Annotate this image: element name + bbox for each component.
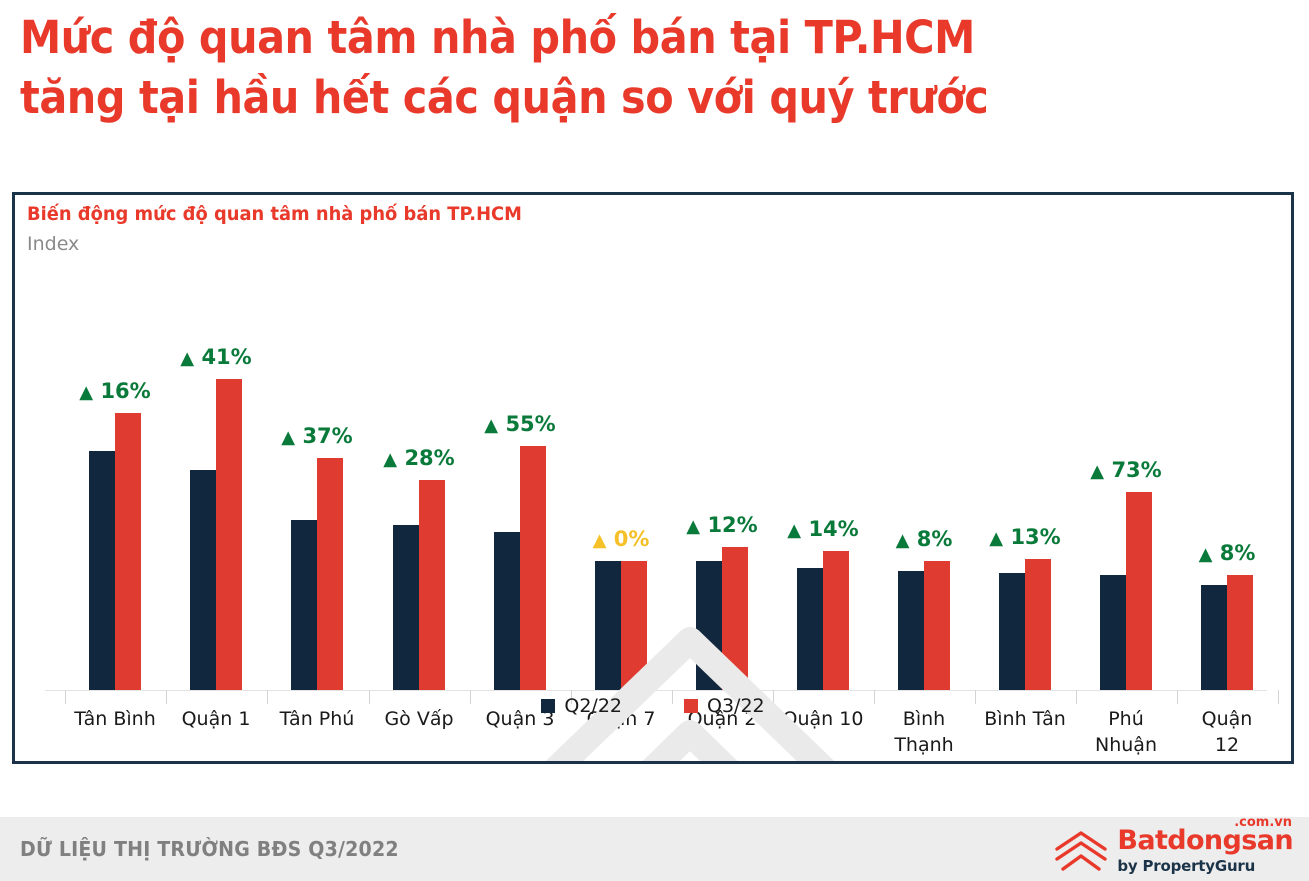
logo-tld-text: .com.vn bbox=[1234, 815, 1292, 830]
delta-value-label: 12% bbox=[700, 513, 758, 537]
chart-panel: Biến động mức độ quan tâm nhà phố bán TP… bbox=[12, 192, 1294, 764]
triangle-up-icon: ▲ bbox=[989, 528, 1003, 549]
x-axis-line bbox=[45, 690, 1267, 691]
bar-q2 bbox=[494, 532, 520, 690]
bar-q3 bbox=[1126, 492, 1152, 690]
footer-bar: DỮ LIỆU THỊ TRƯỜNG BĐS Q3/2022 Batdongsa… bbox=[0, 817, 1309, 881]
bar-q3 bbox=[520, 446, 546, 690]
delta-annotation: ▲ 28% bbox=[383, 446, 454, 470]
delta-annotation: ▲ 16% bbox=[79, 379, 150, 403]
batdongsan-logo[interactable]: Batdongsan .com.vn by PropertyGuru bbox=[1053, 827, 1293, 875]
delta-annotation: ▲ 14% bbox=[787, 517, 858, 541]
legend-item[interactable]: Q2/22 bbox=[541, 695, 622, 717]
bar-q3 bbox=[722, 547, 748, 690]
bar-q3 bbox=[1227, 575, 1253, 690]
delta-value-label: 73% bbox=[1104, 458, 1162, 482]
plot-area: ▲ 16%Tân Bình▲ 41%Quận 1▲ 37%Tân Phú▲ 28… bbox=[15, 195, 1294, 764]
triangle-up-icon: ▲ bbox=[383, 449, 397, 470]
legend-item[interactable]: Q3/22 bbox=[684, 695, 765, 717]
delta-value-label: 8% bbox=[909, 527, 952, 551]
delta-value-label: 37% bbox=[295, 424, 353, 448]
bar-q2 bbox=[595, 561, 621, 690]
logo-wordmark: Batdongsan .com.vn by PropertyGuru bbox=[1117, 827, 1293, 875]
triangle-up-icon: ▲ bbox=[281, 427, 295, 448]
legend-swatch-icon bbox=[541, 699, 555, 713]
delta-value-label: 41% bbox=[194, 345, 252, 369]
bar-q2 bbox=[291, 520, 317, 690]
bar-q2 bbox=[696, 561, 722, 690]
triangle-up-icon: ▲ bbox=[484, 415, 498, 436]
triangle-up-icon: ▲ bbox=[593, 530, 607, 551]
chart-legend: Q2/22Q3/22 bbox=[15, 695, 1291, 717]
delta-annotation: ▲ 73% bbox=[1090, 458, 1161, 482]
delta-annotation: ▲ 55% bbox=[484, 412, 555, 436]
delta-annotation: ▲ 8% bbox=[896, 527, 953, 551]
bar-q2 bbox=[898, 571, 924, 691]
delta-annotation: ▲ 0% bbox=[593, 527, 650, 551]
bar-q2 bbox=[797, 568, 823, 690]
bar-q2 bbox=[393, 525, 419, 690]
headline-line-1: Mức độ quan tâm nhà phố bán tại TP.HCM bbox=[20, 8, 1188, 68]
footer-source-label: DỮ LIỆU THỊ TRƯỜNG BĐS Q3/2022 bbox=[20, 837, 399, 861]
delta-value-label: 8% bbox=[1212, 541, 1255, 565]
bar-q3 bbox=[216, 379, 242, 690]
triangle-up-icon: ▲ bbox=[180, 348, 194, 369]
delta-value-label: 16% bbox=[93, 379, 151, 403]
delta-value-label: 0% bbox=[606, 527, 649, 551]
bar-q2 bbox=[999, 573, 1025, 690]
delta-annotation: ▲ 8% bbox=[1199, 541, 1256, 565]
headline-line-2: tăng tại hầu hết các quận so với quý trư… bbox=[20, 68, 1188, 128]
bar-q3 bbox=[621, 561, 647, 690]
triangle-up-icon: ▲ bbox=[79, 382, 93, 403]
delta-value-label: 14% bbox=[801, 517, 859, 541]
triangle-up-icon: ▲ bbox=[1199, 544, 1213, 565]
delta-annotation: ▲ 37% bbox=[281, 424, 352, 448]
legend-swatch-icon bbox=[684, 699, 698, 713]
delta-annotation: ▲ 13% bbox=[989, 525, 1060, 549]
bar-q3 bbox=[317, 458, 343, 690]
delta-value-label: 28% bbox=[397, 446, 455, 470]
bar-q3 bbox=[823, 551, 849, 690]
delta-value-label: 13% bbox=[1003, 525, 1061, 549]
bar-q2 bbox=[190, 470, 216, 690]
logo-tagline-text: by PropertyGuru bbox=[1117, 857, 1293, 875]
triangle-up-icon: ▲ bbox=[787, 520, 801, 541]
delta-annotation: ▲ 12% bbox=[686, 513, 757, 537]
delta-annotation: ▲ 41% bbox=[180, 345, 251, 369]
bar-q2 bbox=[1100, 575, 1126, 690]
bar-q3 bbox=[115, 413, 141, 690]
logo-brand-text: Batdongsan bbox=[1117, 827, 1293, 854]
triangle-up-icon: ▲ bbox=[896, 530, 910, 551]
house-chevron-icon bbox=[1053, 829, 1109, 873]
delta-value-label: 55% bbox=[498, 412, 556, 436]
headline: Mức độ quan tâm nhà phố bán tại TP.HCM t… bbox=[20, 8, 1290, 129]
legend-label: Q3/22 bbox=[707, 695, 765, 717]
triangle-up-icon: ▲ bbox=[1090, 461, 1104, 482]
bar-q3 bbox=[419, 480, 445, 690]
bar-q2 bbox=[1201, 585, 1227, 690]
bar-q3 bbox=[1025, 559, 1051, 690]
legend-label: Q2/22 bbox=[564, 695, 622, 717]
bar-q3 bbox=[924, 561, 950, 690]
bar-q2 bbox=[89, 451, 115, 690]
triangle-up-icon: ▲ bbox=[686, 516, 700, 537]
